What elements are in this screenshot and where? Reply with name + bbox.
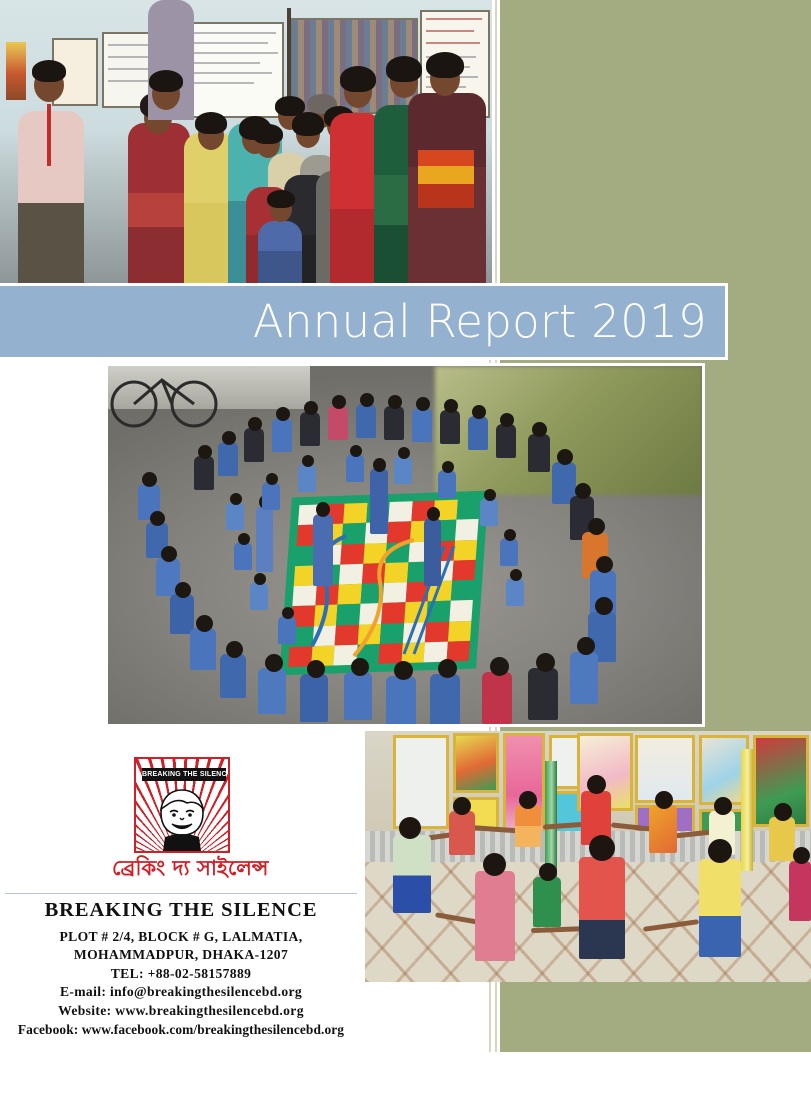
logo-bengali-text: ব্রেকিং দ্য সাইলেন্স bbox=[112, 857, 252, 880]
address-line-2: MOHAMMADPUR, DHAKA-1207 bbox=[0, 946, 362, 965]
telephone: TEL: +88-02-58157889 bbox=[0, 965, 362, 984]
logo-mark-icon: BREAKING THE SILENCE bbox=[134, 757, 230, 853]
report-cover-page: Annual Report 2019 BREAKING THE SILENCE … bbox=[0, 0, 811, 1100]
snakes-and-ladders-photo bbox=[105, 363, 705, 727]
organization-logo: BREAKING THE SILENCE ব্রেকিং দ্য সাইলেন্… bbox=[112, 757, 252, 880]
organization-name: BREAKING THE SILENCE bbox=[0, 898, 362, 924]
group-photo bbox=[0, 0, 492, 283]
page-title: Annual Report 2019 bbox=[253, 299, 725, 344]
facebook[interactable]: Facebook: www.facebook.com/breakingthesi… bbox=[0, 1021, 362, 1039]
contact-block: BREAKING THE SILENCE PLOT # 2/4, BLOCK #… bbox=[0, 898, 362, 1039]
report-title-band: Annual Report 2019 bbox=[0, 283, 728, 360]
child-face-icon bbox=[151, 785, 213, 851]
website[interactable]: Website: www.breakingthesilencebd.org bbox=[0, 1002, 362, 1021]
circle-game-photo bbox=[365, 731, 811, 982]
email[interactable]: E-mail: info@breakingthesilencebd.org bbox=[0, 983, 362, 1002]
logo-banner-text: BREAKING THE SILENCE bbox=[142, 768, 226, 781]
contact-divider bbox=[5, 893, 357, 894]
address-line-1: PLOT # 2/4, BLOCK # G, LALMATIA, bbox=[0, 928, 362, 947]
